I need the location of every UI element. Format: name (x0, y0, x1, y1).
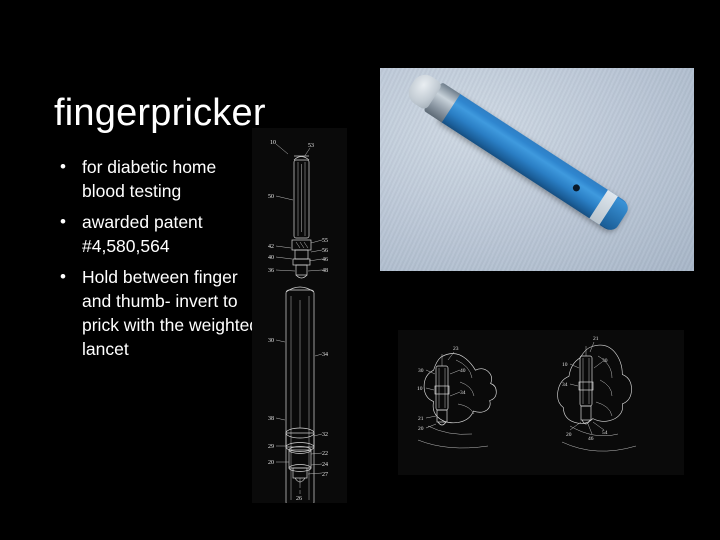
svg-text:38: 38 (268, 416, 274, 422)
svg-text:54: 54 (602, 430, 608, 436)
svg-text:24: 24 (322, 462, 328, 468)
bullet-marker-icon: • (60, 265, 66, 289)
svg-text:20: 20 (566, 432, 572, 438)
svg-text:29: 29 (268, 444, 274, 450)
svg-text:21: 21 (593, 336, 599, 342)
list-item: • for diabetic home blood testing (56, 155, 261, 203)
patent-main-svg: 10 53 50 55 56 42 46 40 36 48 30 34 38 3… (252, 128, 347, 503)
bullet-marker-icon: • (60, 155, 66, 179)
page-title: fingerpricker (54, 91, 266, 135)
svg-text:53: 53 (308, 143, 314, 149)
svg-text:40: 40 (268, 255, 274, 261)
svg-text:20: 20 (268, 460, 274, 466)
svg-text:10: 10 (417, 386, 423, 392)
svg-text:23: 23 (453, 346, 459, 352)
svg-text:21: 21 (418, 416, 424, 422)
pen-body (437, 91, 632, 234)
svg-text:34: 34 (322, 352, 328, 358)
svg-text:30: 30 (418, 368, 424, 374)
patent-lower-right-group: 21 10 30 34 20 46 54 (558, 336, 636, 451)
svg-text:46: 46 (588, 436, 594, 442)
svg-text:50: 50 (268, 194, 274, 200)
svg-text:22: 22 (322, 451, 328, 457)
slide: fingerpricker • for diabetic home blood … (0, 0, 720, 540)
pen-button-dot-icon (572, 183, 582, 193)
pen-device-illustration (424, 74, 674, 264)
list-item-label: awarded patent #4,580,564 (82, 212, 203, 256)
device-photo (380, 68, 694, 271)
list-item: • Hold between finger and thumb- invert … (56, 265, 261, 361)
svg-text:36: 36 (268, 268, 274, 274)
patent-lower-svg: 23 30 40 10 34 21 20 (398, 330, 684, 475)
patent-lower-left-group: 23 30 40 10 34 21 20 (417, 346, 496, 448)
svg-text:40: 40 (460, 368, 466, 374)
bullet-list: • for diabetic home blood testing • awar… (56, 155, 261, 368)
svg-text:27: 27 (322, 472, 328, 478)
patent-main-figure: 10 53 50 55 56 42 46 40 36 48 30 34 38 3… (252, 128, 347, 503)
svg-text:20: 20 (418, 426, 424, 432)
svg-text:30: 30 (268, 338, 274, 344)
svg-text:46: 46 (322, 257, 328, 263)
svg-text:26: 26 (296, 496, 302, 502)
patent-lower-figures: 23 30 40 10 34 21 20 (398, 330, 684, 475)
list-item: • awarded patent #4,580,564 (56, 210, 261, 258)
svg-text:48: 48 (322, 268, 328, 274)
bullet-marker-icon: • (60, 210, 66, 234)
svg-text:34: 34 (562, 382, 568, 388)
svg-text:56: 56 (322, 248, 328, 254)
svg-text:55: 55 (322, 238, 328, 244)
list-item-label: for diabetic home blood testing (82, 157, 216, 201)
svg-text:10: 10 (562, 362, 568, 368)
svg-text:34: 34 (460, 390, 466, 396)
svg-text:10: 10 (270, 140, 276, 146)
svg-text:32: 32 (322, 432, 328, 438)
svg-text:30: 30 (602, 358, 608, 364)
svg-text:42: 42 (268, 244, 274, 250)
list-item-label: Hold between finger and thumb- invert to… (82, 267, 259, 359)
